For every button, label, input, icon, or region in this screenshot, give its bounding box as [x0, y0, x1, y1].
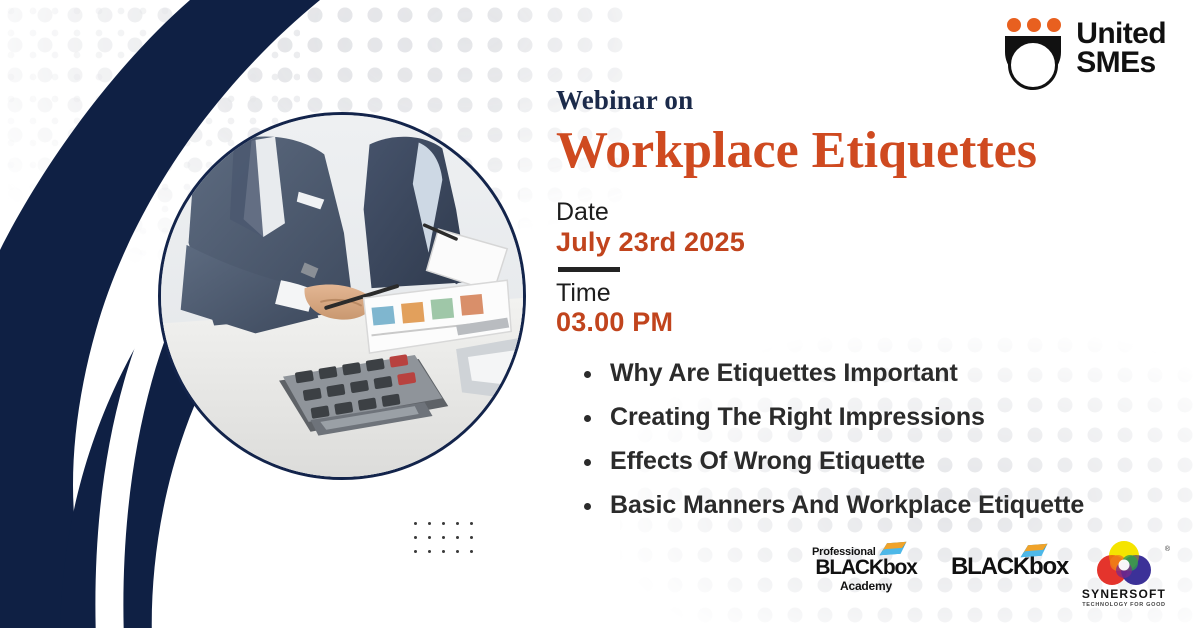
dot-grid-dot — [428, 536, 431, 539]
dot-grid-dot — [456, 536, 459, 539]
dot-grid-dot — [414, 550, 417, 553]
kicker-text: Webinar on — [556, 86, 1156, 116]
logo-dot-3 — [1047, 18, 1061, 32]
dot-grid-accent — [414, 522, 476, 556]
topics-list: Why Are Etiquettes Important Creating Th… — [582, 361, 1156, 518]
dot-grid-dot — [456, 522, 459, 525]
synersoft-name: SYNERSOFT — [1074, 587, 1174, 601]
dot-grid-dot — [470, 522, 473, 525]
logo-dot-2 — [1027, 18, 1041, 32]
blackbox-swoosh-icon — [1019, 542, 1049, 559]
dot-grid-dot — [470, 536, 473, 539]
registered-mark: ® — [1165, 546, 1170, 553]
pbb-main-word: BLACKbox — [806, 558, 926, 578]
dot-grid-dot — [442, 550, 445, 553]
dot-grid-dot — [442, 536, 445, 539]
dot-grid-dot — [442, 522, 445, 525]
dot-grid-dot — [428, 522, 431, 525]
date-label: Date — [556, 198, 1156, 227]
united-smes-mark — [1005, 18, 1067, 80]
list-item: Why Are Etiquettes Important — [582, 361, 1156, 386]
united-smes-wordmark: United SMEs — [1076, 18, 1166, 78]
synersoft-tagline: TECHNOLOGY FOR GOOD — [1074, 602, 1174, 608]
partner-logos: Professional BLACKbox Academy BLACKbox — [806, 540, 1174, 608]
synersoft-logo: ® SYNERSOFT TECHNOLOGY FOR GOOD — [1074, 540, 1174, 608]
logo-line-2: SMEs — [1076, 49, 1166, 78]
pbb-box: box — [883, 556, 917, 579]
list-item: Creating The Right Impressions — [582, 405, 1156, 430]
logo-dot-1 — [1007, 18, 1021, 32]
pbb-black: BLACK — [815, 556, 883, 579]
date-value: July 23rd 2025 — [556, 227, 1156, 258]
logo-dots — [1007, 18, 1067, 32]
time-label: Time — [556, 279, 1156, 308]
dot-grid-dot — [414, 522, 417, 525]
blackbox-swoosh-icon — [878, 540, 908, 557]
list-item: Basic Manners And Workplace Etiquette — [582, 493, 1156, 518]
content-block: Webinar on Workplace Etiquettes Date Jul… — [556, 86, 1156, 537]
dot-grid-dot — [456, 550, 459, 553]
dot-grid-dot — [414, 536, 417, 539]
time-block: Time 03.00 PM — [556, 279, 1156, 339]
professional-blackbox-academy-logo: Professional BLACKbox Academy — [806, 546, 926, 593]
section-divider — [558, 267, 620, 272]
pbb-bottom-word: Academy — [806, 579, 926, 593]
date-block: Date July 23rd 2025 — [556, 198, 1156, 258]
page-title: Workplace Etiquettes — [556, 122, 1156, 180]
bb-main-word: BLACKbox — [951, 556, 1069, 579]
united-smes-logo: United SMEs — [1005, 18, 1166, 80]
logo-line-1: United — [1076, 20, 1166, 49]
dot-grid-dot — [470, 550, 473, 553]
synersoft-venn-icon — [1088, 540, 1160, 586]
business-meeting-photo — [158, 112, 526, 480]
logo-bowl-icon — [1005, 36, 1061, 80]
time-value: 03.00 PM — [556, 307, 1156, 338]
bb-black: BLACK — [951, 553, 1029, 580]
webinar-banner: United SMEs Webinar on Workplace Etiquet… — [0, 0, 1200, 628]
blackbox-logo: BLACKbox — [951, 556, 1069, 579]
list-item: Effects Of Wrong Etiquette — [582, 449, 1156, 474]
dot-grid-dot — [428, 550, 431, 553]
